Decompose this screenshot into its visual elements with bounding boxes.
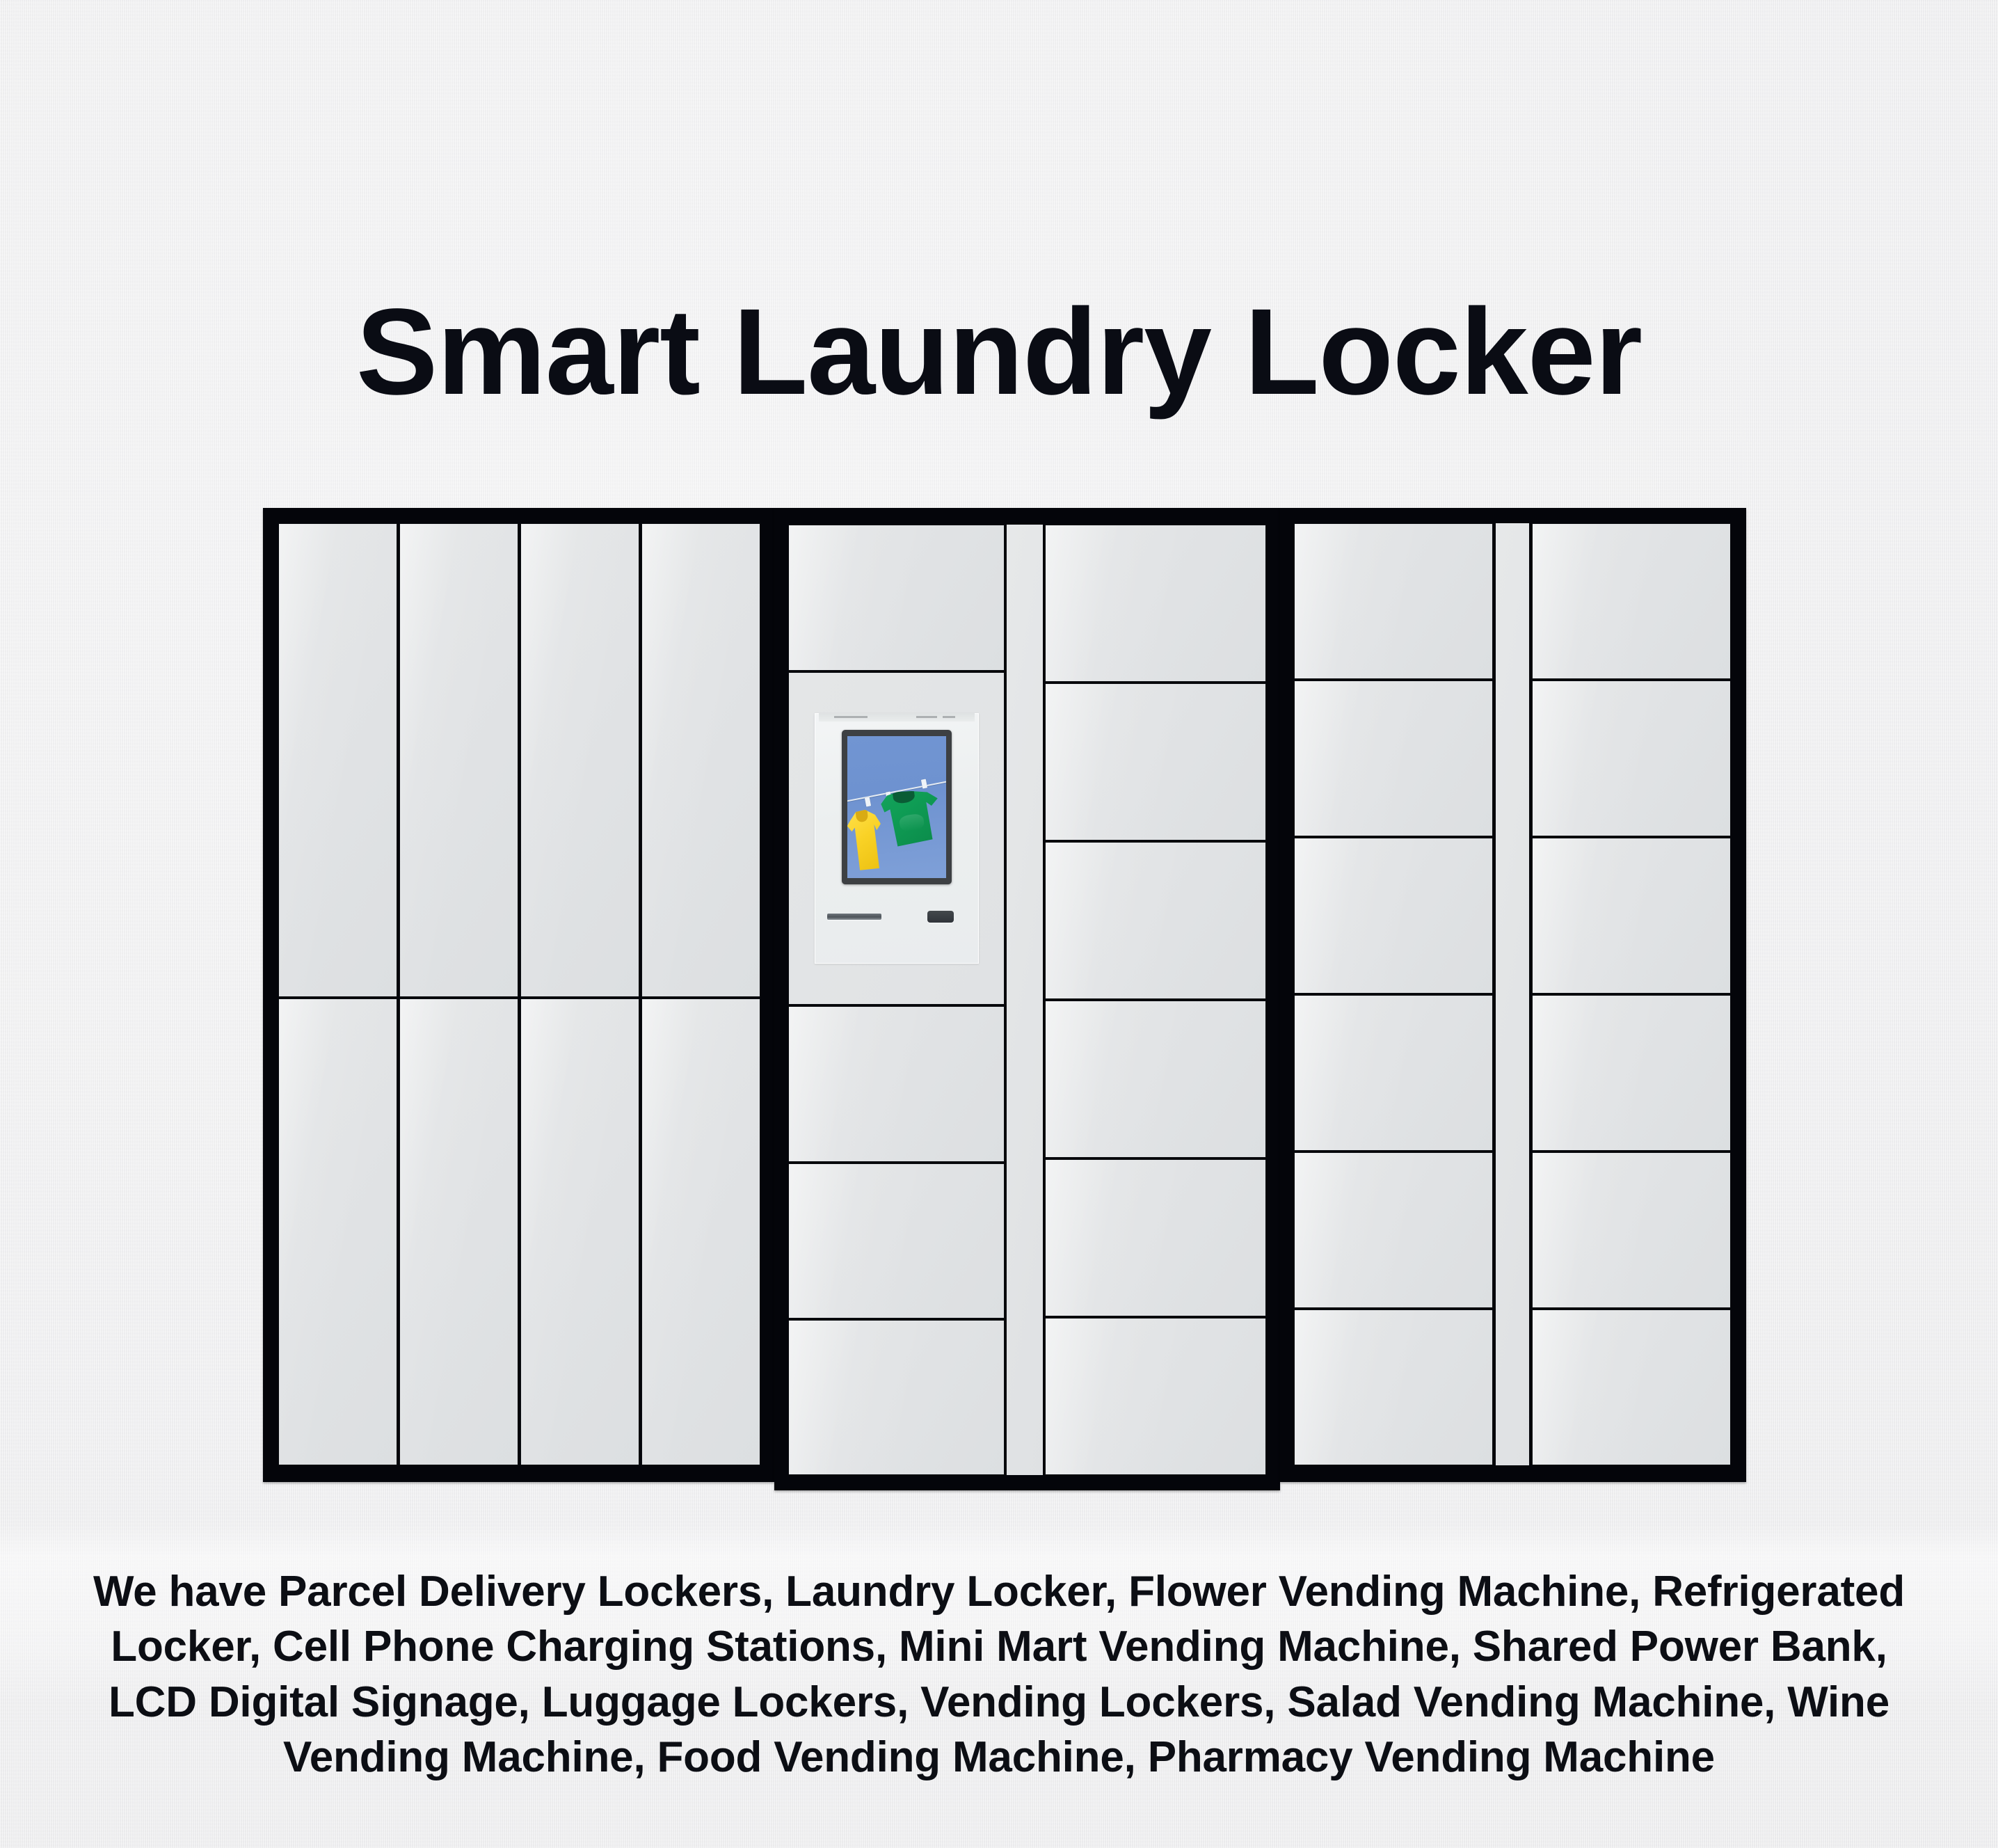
locker-door[interactable]: [278, 998, 397, 1465]
card-slot[interactable]: [827, 914, 881, 920]
clothespin-icon: [865, 797, 871, 807]
locker-door[interactable]: [788, 1006, 1005, 1161]
middle-left-column: [788, 525, 1005, 1475]
locker-door[interactable]: [1294, 995, 1493, 1151]
caption-line: We have Parcel Delivery Lockers, Laundry…: [42, 1564, 1956, 1619]
left-cabinet-column-4: [641, 523, 760, 1465]
clothespin-icon: [921, 779, 927, 788]
locker-door[interactable]: [1532, 680, 1731, 836]
locker-door[interactable]: [1294, 1309, 1493, 1465]
locker-door[interactable]: [1045, 1001, 1266, 1158]
locker-door[interactable]: [399, 523, 518, 997]
middle-divider-strip: [1007, 525, 1043, 1475]
kiosk-terminal[interactable]: [815, 713, 979, 964]
locker-door[interactable]: [1294, 523, 1493, 679]
locker-door[interactable]: [788, 1320, 1005, 1475]
caption-line: LCD Digital Signage, Luggage Lockers, Ve…: [42, 1675, 1956, 1730]
product-list-caption: We have Parcel Delivery Lockers, Laundry…: [0, 1564, 1998, 1785]
left-cabinet-column-2: [399, 523, 518, 1465]
locker-bank: [263, 508, 1746, 1490]
locker-door[interactable]: [788, 1163, 1005, 1319]
right-right-column: [1532, 523, 1731, 1465]
qr-scanner[interactable]: [927, 911, 954, 923]
locker-door[interactable]: [641, 998, 760, 1465]
lcd-touchscreen[interactable]: [847, 736, 946, 878]
locker-door[interactable]: [520, 998, 639, 1465]
yellow-tshirt: [847, 808, 886, 871]
right-left-column: [1294, 523, 1493, 1465]
locker-door[interactable]: [1045, 1318, 1266, 1475]
left-cabinet: [263, 508, 774, 1482]
locker-door[interactable]: [520, 523, 639, 997]
locker-door[interactable]: [1532, 523, 1731, 679]
green-tshirt: [877, 786, 943, 848]
middle-right-column: [1045, 525, 1266, 1475]
locker-door[interactable]: [1045, 842, 1266, 999]
caption-line: Vending Machine, Food Vending Machine, P…: [42, 1730, 1956, 1785]
kiosk-top-vent: [819, 713, 975, 722]
locker-door[interactable]: [1532, 838, 1731, 994]
locker-door[interactable]: [1045, 683, 1266, 841]
kiosk-panel-door[interactable]: [788, 672, 1005, 1005]
locker-door[interactable]: [1294, 1152, 1493, 1308]
left-cabinet-column-3: [520, 523, 639, 1465]
screen-bezel: [842, 730, 952, 884]
locker-door[interactable]: [399, 998, 518, 1465]
middle-cabinet: [774, 508, 1280, 1490]
right-divider-strip: [1496, 523, 1529, 1465]
locker-door[interactable]: [1045, 525, 1266, 682]
locker-door[interactable]: [1294, 680, 1493, 836]
locker-door[interactable]: [1532, 1152, 1731, 1308]
locker-door[interactable]: [1532, 1309, 1731, 1465]
locker-door[interactable]: [788, 525, 1005, 671]
locker-door[interactable]: [1045, 1159, 1266, 1316]
locker-door[interactable]: [278, 523, 397, 997]
caption-line: Locker, Cell Phone Charging Stations, Mi…: [42, 1619, 1956, 1674]
locker-door[interactable]: [641, 523, 760, 997]
right-cabinet: [1280, 508, 1746, 1482]
page-title: Smart Laundry Locker: [0, 291, 1998, 413]
kiosk-control-area: [815, 884, 979, 964]
locker-door[interactable]: [1294, 838, 1493, 994]
left-cabinet-column-1: [278, 523, 397, 1465]
locker-door[interactable]: [1532, 995, 1731, 1151]
